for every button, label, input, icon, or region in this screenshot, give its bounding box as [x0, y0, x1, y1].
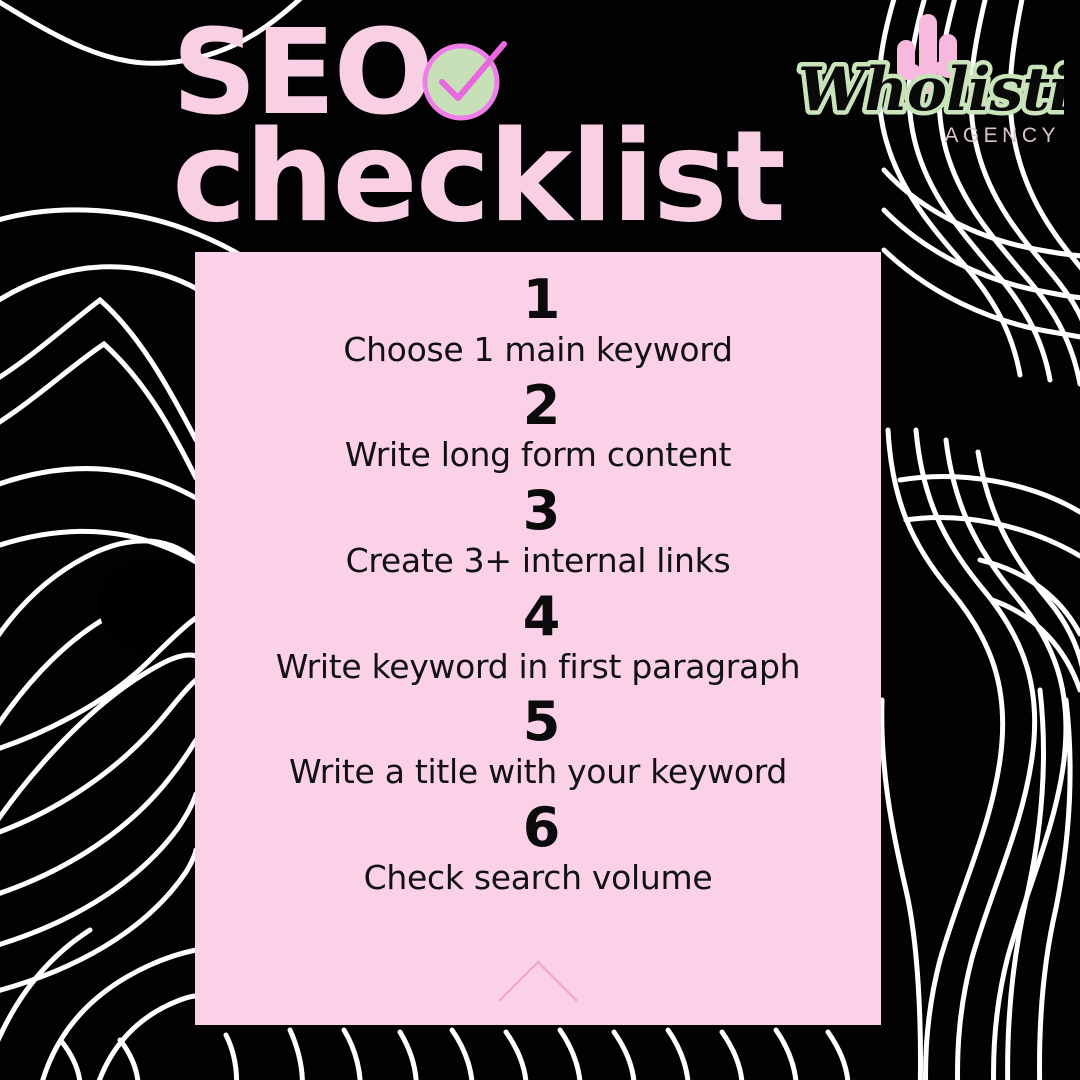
brand-subtitle: AGENCY: [944, 124, 1060, 148]
checklist-item-3: 3 Create 3+ internal links: [195, 473, 881, 579]
checklist-panel: 1 Choose 1 main keyword 2 Write long for…: [195, 252, 881, 1025]
item-number: 2: [198, 380, 884, 433]
checklist-item-4: 4 Write keyword in first paragraph: [195, 579, 881, 685]
item-number: 5: [198, 696, 884, 749]
checklist-item-5: 5 Write a title with your keyword: [195, 684, 881, 790]
checklist-item-1: 1 Choose 1 main keyword: [195, 262, 881, 368]
item-label: Create 3+ internal links: [195, 544, 881, 579]
brand-wordmark: Wholistic: [796, 56, 1064, 128]
item-label: Write long form content: [195, 438, 881, 473]
item-label: Check search volume: [195, 861, 881, 896]
item-number: 1: [198, 274, 884, 327]
seo-checklist-graphic: SEO checklist Wholistic AGENCY 1 Choose …: [0, 0, 1080, 1080]
brand-wordmark-text: Wholistic: [798, 56, 1064, 125]
item-label: Write a title with your keyword: [195, 755, 881, 790]
check-circle-icon: [418, 36, 510, 128]
item-number: 3: [198, 485, 884, 538]
item-label: Write keyword in first paragraph: [195, 650, 881, 685]
brand-logo[interactable]: Wholistic AGENCY: [796, 14, 1064, 154]
item-number: 4: [198, 591, 884, 644]
chevron-up-icon: [495, 957, 581, 1003]
item-label: Choose 1 main keyword: [195, 333, 881, 368]
item-number: 6: [198, 802, 884, 855]
checklist-item-6: 6 Check search volume: [195, 790, 881, 896]
checklist-item-2: 2 Write long form content: [195, 368, 881, 474]
